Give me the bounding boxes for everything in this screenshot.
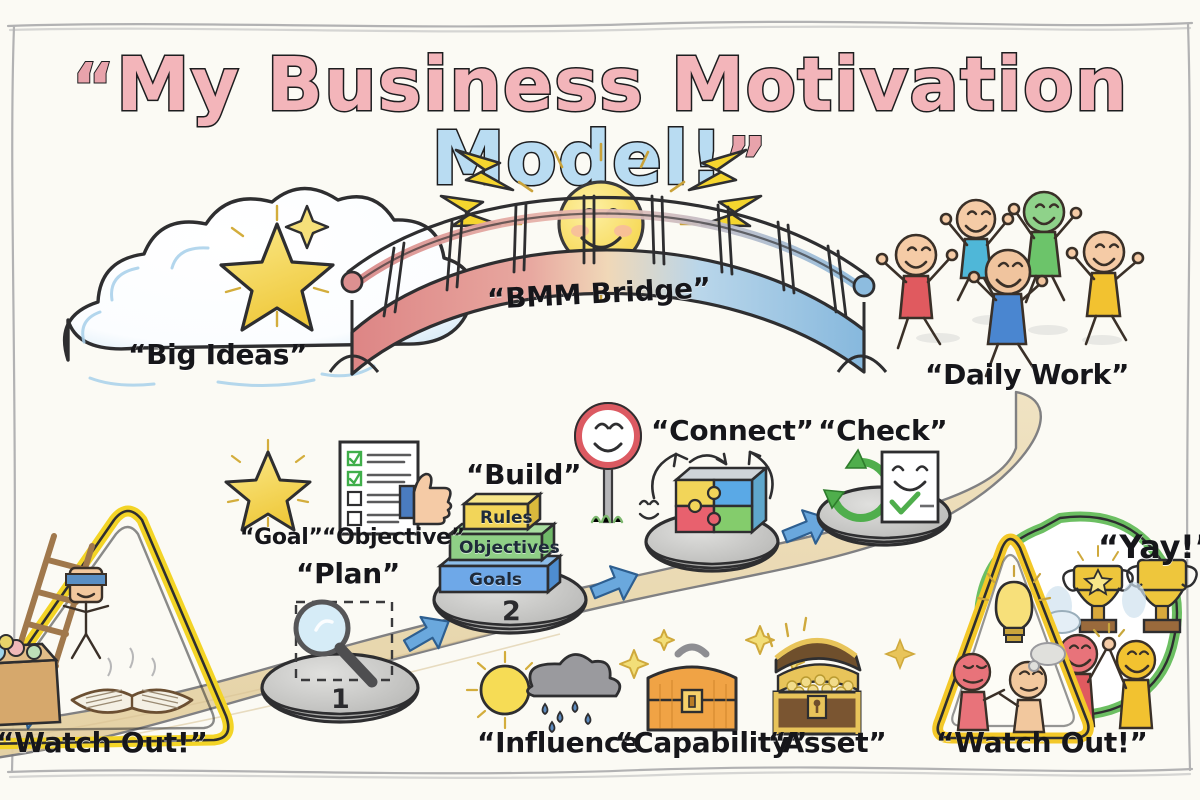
whiteboard-canvas: “My Business Motivation Model!” — [0, 0, 1200, 800]
check-document-icon — [882, 452, 938, 522]
label-step-build: “Build” — [466, 458, 581, 491]
label-big-ideas: “Big Ideas” — [128, 338, 307, 371]
small-smiley — [631, 493, 665, 527]
label-step-check: “Check” — [818, 414, 947, 447]
block-label-objectives: Objectives — [459, 538, 560, 558]
asset-treasure-chest-icon — [768, 618, 914, 734]
label-asset: “Asset” — [768, 726, 886, 759]
person-yellow — [1067, 232, 1143, 344]
step-4-check[interactable] — [818, 450, 950, 545]
label-watch-out-right: “Watch Out!” — [936, 726, 1148, 759]
open-book-icon — [72, 648, 192, 713]
step-number-1: 1 — [331, 684, 350, 715]
person-red — [877, 235, 957, 348]
scene-artwork — [0, 0, 1200, 800]
influence-icon — [467, 652, 620, 732]
objective-checklist-icon — [340, 442, 451, 534]
label-objective: “Objective” — [322, 525, 465, 550]
goal-star-icon — [226, 440, 310, 530]
puzzle-cube-icon — [676, 468, 766, 532]
label-watch-out-left: “Watch Out!” — [0, 726, 208, 759]
label-yay: “Yay!” — [1098, 528, 1200, 566]
block-label-rules: Rules — [480, 508, 533, 528]
block-label-goals: Goals — [469, 570, 522, 590]
label-step-plan: “Plan” — [296, 557, 400, 590]
label-step-connect: “Connect” — [651, 414, 814, 447]
celebrating-people-group — [877, 192, 1143, 376]
label-daily-work: “Daily Work” — [925, 358, 1129, 391]
box-of-clutter — [0, 635, 60, 726]
step-3-connect[interactable] — [631, 452, 778, 571]
label-goal: “Goal” — [240, 525, 323, 550]
step-number-2: 2 — [502, 596, 521, 627]
